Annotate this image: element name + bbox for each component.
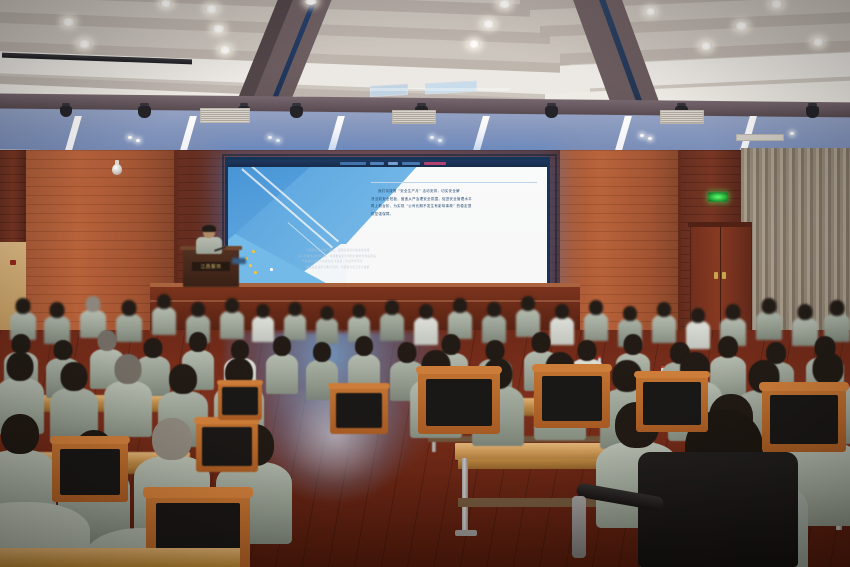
ceiling-downlight <box>468 40 480 48</box>
chair <box>418 370 500 434</box>
spotlight-fixture <box>806 106 819 118</box>
conference-hall-photo: 我们将按照 “安全生产月” 活动安排，切实安全解 决当前安全短板，营造从严治理安… <box>0 0 850 567</box>
ceiling-downlight <box>212 25 225 33</box>
slide-bullet-dot <box>249 264 252 267</box>
air-vent <box>660 110 704 124</box>
ceiling-downlight <box>205 5 218 13</box>
slide-bullet-dot <box>270 268 273 271</box>
presentation-slide: 我们将按照 “安全生产月” 活动安排，切实安全解 决当前安全短板，营造从严治理安… <box>228 160 547 289</box>
ceiling-downlight <box>482 20 495 28</box>
spotlight-fixture <box>138 106 151 118</box>
slide-body-text: 我们将按照 “安全生产月” 活动安排，切实安全解 决当前安全短板，营造从严治理安… <box>371 188 537 218</box>
spotlight-fixture <box>545 106 558 118</box>
chair <box>534 368 610 428</box>
chair <box>636 374 708 432</box>
air-vent <box>200 108 250 123</box>
exit-sign <box>708 192 728 202</box>
ceiling-downlight <box>498 0 511 8</box>
spotlight-fixture <box>290 106 303 118</box>
air-vent <box>392 110 436 124</box>
door-handle[interactable] <box>722 272 726 279</box>
slide-divider <box>371 182 537 183</box>
ceiling-downlight <box>770 0 783 8</box>
ceiling-downlight <box>735 22 748 30</box>
ceiling-downlight <box>78 40 91 48</box>
slide-bullet-dot <box>252 250 255 253</box>
chair <box>196 420 258 472</box>
slide-footer-text: 全面落实安全生产责任，强化红线意识和底线思维 深入开展隐患排查治理，持续推进安全… <box>276 248 531 270</box>
chair <box>218 382 262 420</box>
ceiling-downlight <box>645 8 656 15</box>
ceiling-downlight <box>160 0 172 7</box>
podium-plaque: 江西服饰 <box>192 262 230 271</box>
ceiling-downlight <box>812 38 824 46</box>
door-handle[interactable] <box>714 272 718 279</box>
slide-toolbar <box>228 160 547 167</box>
chair <box>52 440 128 502</box>
foreground-office-chair <box>638 452 798 567</box>
podium-monitor <box>232 258 246 264</box>
desk <box>0 548 240 567</box>
chair <box>762 386 846 452</box>
ceiling-downlight <box>62 18 75 26</box>
slide-bullet-dot <box>254 271 257 274</box>
ceiling-downlight <box>700 42 712 50</box>
projection-screen: 我们将按照 “安全生产月” 活动安排，切实安全解 决当前安全短板，营造从严治理安… <box>225 157 550 292</box>
ceiling-dome-camera <box>112 160 122 176</box>
ceiling-downlight <box>219 46 231 54</box>
chair <box>330 386 388 434</box>
